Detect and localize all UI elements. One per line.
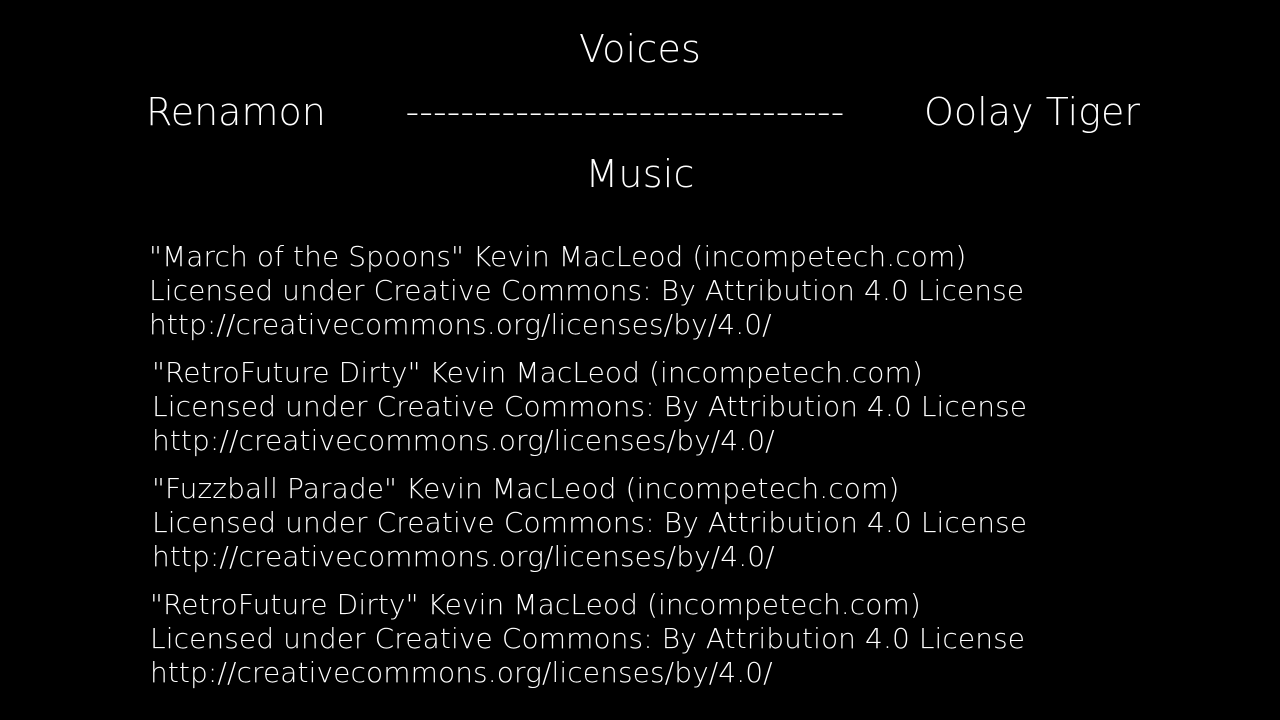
cast-actor-name: Oolay Tiger xyxy=(924,89,1140,135)
voices-section-heading: Voices xyxy=(0,27,1280,71)
music-credit-block: "March of the Spoons" Kevin MacLeod (inc… xyxy=(0,240,1280,342)
music-track-license-url: http://creativecommons.org/licenses/by/4… xyxy=(149,308,1280,342)
music-track-license-url: http://creativecommons.org/licenses/by/4… xyxy=(152,424,1280,458)
music-track-license: Licensed under Creative Commons: By Attr… xyxy=(152,506,1280,540)
music-track-license-url: http://creativecommons.org/licenses/by/4… xyxy=(150,656,1280,690)
music-track-license: Licensed under Creative Commons: By Attr… xyxy=(152,390,1280,424)
music-track-credit: "March of the Spoons" Kevin MacLeod (inc… xyxy=(149,240,1280,274)
music-credits-list: "March of the Spoons" Kevin MacLeod (inc… xyxy=(0,240,1280,690)
music-credit-block: "RetroFuture Dirty" Kevin MacLeod (incom… xyxy=(0,356,1280,458)
music-track-license: Licensed under Creative Commons: By Attr… xyxy=(149,274,1280,308)
credits-screen: Voices Renamon -------------------------… xyxy=(0,0,1280,720)
music-section-heading: Music xyxy=(0,152,1280,196)
music-credit-block: "RetroFuture Dirty" Kevin MacLeod (incom… xyxy=(0,588,1280,690)
cast-credit-row: Renamon --------------------------------… xyxy=(146,89,1140,135)
music-track-license-url: http://creativecommons.org/licenses/by/4… xyxy=(152,540,1280,574)
cast-role-name: Renamon xyxy=(146,89,326,135)
music-track-credit: "Fuzzball Parade" Kevin MacLeod (incompe… xyxy=(152,472,1280,506)
music-track-credit: "RetroFuture Dirty" Kevin MacLeod (incom… xyxy=(152,356,1280,390)
music-track-credit: "RetroFuture Dirty" Kevin MacLeod (incom… xyxy=(150,588,1280,622)
music-credit-block: "Fuzzball Parade" Kevin MacLeod (incompe… xyxy=(0,472,1280,574)
music-track-license: Licensed under Creative Commons: By Attr… xyxy=(150,622,1280,656)
cast-separator-dashes: -------------------------------- xyxy=(326,89,924,135)
